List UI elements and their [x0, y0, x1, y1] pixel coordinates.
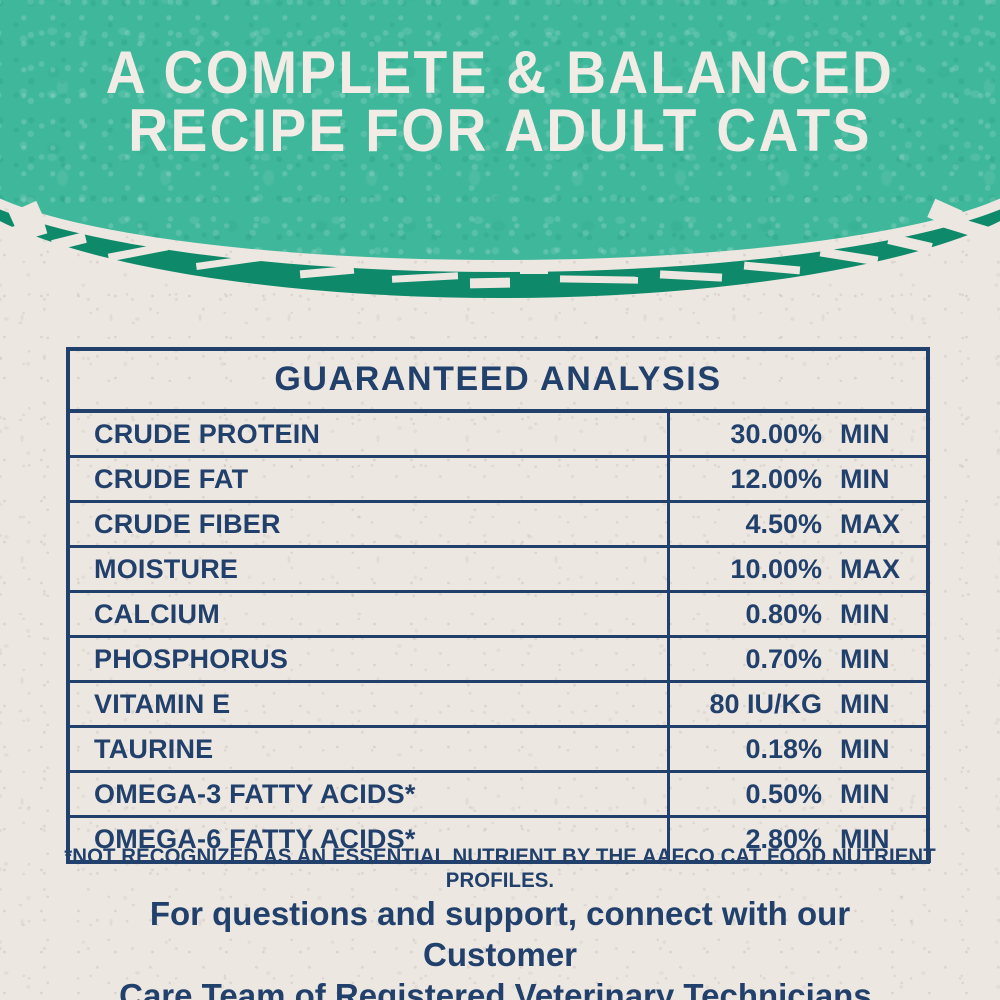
brush-nick — [560, 275, 638, 283]
nutrient-value-cell: 10.00% MAX — [667, 548, 926, 590]
brush-nick — [470, 278, 510, 289]
nutrient-amount: 0.50% — [670, 779, 832, 810]
brush-nick — [660, 270, 722, 281]
table-row: TAURINE 0.18% MIN — [70, 728, 926, 773]
table-title: GUARANTEED ANALYSIS — [70, 351, 926, 413]
nutrient-name: VITAMIN E — [70, 683, 667, 725]
table-row: CRUDE PROTEIN 30.00% MIN — [70, 413, 926, 458]
nutrient-value-cell: 30.00% MIN — [667, 413, 926, 455]
aafco-footnote: *NOT RECOGNIZED AS AN ESSENTIAL NUTRIENT… — [15, 845, 985, 893]
nutrient-name: CRUDE PROTEIN — [70, 413, 667, 455]
brush-nick — [520, 265, 548, 274]
table-row: PHOSPHORUS 0.70% MIN — [70, 638, 926, 683]
nutrient-value-cell: 0.18% MIN — [667, 728, 926, 770]
nutrient-value-cell: 80 IU/KG MIN — [667, 683, 926, 725]
nutrient-name: CRUDE FIBER — [70, 503, 667, 545]
nutrient-qualifier: MIN — [832, 644, 926, 675]
nutrient-qualifier: MIN — [832, 599, 926, 630]
nutrient-qualifier: MAX — [832, 554, 926, 585]
nutrient-amount: 12.00% — [670, 464, 832, 495]
nutrient-amount: 30.00% — [670, 419, 832, 450]
nutrient-amount: 0.70% — [670, 644, 832, 675]
nutrient-name: MOISTURE — [70, 548, 667, 590]
brush-nick — [744, 262, 800, 275]
nutrient-qualifier: MIN — [832, 734, 926, 765]
nutrient-value-cell: 4.50% MAX — [667, 503, 926, 545]
nutrient-name: CALCIUM — [70, 593, 667, 635]
nutrient-amount: 4.50% — [670, 509, 832, 540]
table-row: VITAMIN E 80 IU/KG MIN — [70, 683, 926, 728]
nutrient-value-cell: 0.70% MIN — [667, 638, 926, 680]
table-row: CALCIUM 0.80% MIN — [70, 593, 926, 638]
nutrient-qualifier: MIN — [832, 779, 926, 810]
nutrient-qualifier: MIN — [832, 419, 926, 450]
customer-care-message: For questions and support, connect with … — [70, 893, 930, 1000]
nutrient-name: PHOSPHORUS — [70, 638, 667, 680]
table-row: OMEGA-3 FATTY ACIDS* 0.50% MIN — [70, 773, 926, 818]
banner-headline: A COMPLETE & BALANCED RECIPE FOR ADULT C… — [40, 44, 960, 160]
nutrient-qualifier: MAX — [832, 509, 926, 540]
nutrient-amount: 0.18% — [670, 734, 832, 765]
table-row: MOISTURE 10.00% MAX — [70, 548, 926, 593]
nutrient-qualifier: MIN — [832, 464, 926, 495]
nutrient-name: TAURINE — [70, 728, 667, 770]
nutrient-name: OMEGA-3 FATTY ACIDS* — [70, 773, 667, 815]
guaranteed-analysis-table: GUARANTEED ANALYSIS CRUDE PROTEIN 30.00%… — [66, 347, 930, 864]
product-label-panel: A COMPLETE & BALANCED RECIPE FOR ADULT C… — [0, 0, 1000, 1000]
nutrient-amount: 80 IU/KG — [670, 689, 832, 720]
nutrient-value-cell: 0.80% MIN — [667, 593, 926, 635]
nutrient-amount: 10.00% — [670, 554, 832, 585]
nutrient-name: CRUDE FAT — [70, 458, 667, 500]
nutrient-amount: 0.80% — [670, 599, 832, 630]
table-row: CRUDE FIBER 4.50% MAX — [70, 503, 926, 548]
nutrient-value-cell: 0.50% MIN — [667, 773, 926, 815]
table-row: CRUDE FAT 12.00% MIN — [70, 458, 926, 503]
nutrient-qualifier: MIN — [832, 689, 926, 720]
nutrient-value-cell: 12.00% MIN — [667, 458, 926, 500]
brush-nick — [300, 266, 354, 279]
brush-nick — [392, 272, 458, 282]
